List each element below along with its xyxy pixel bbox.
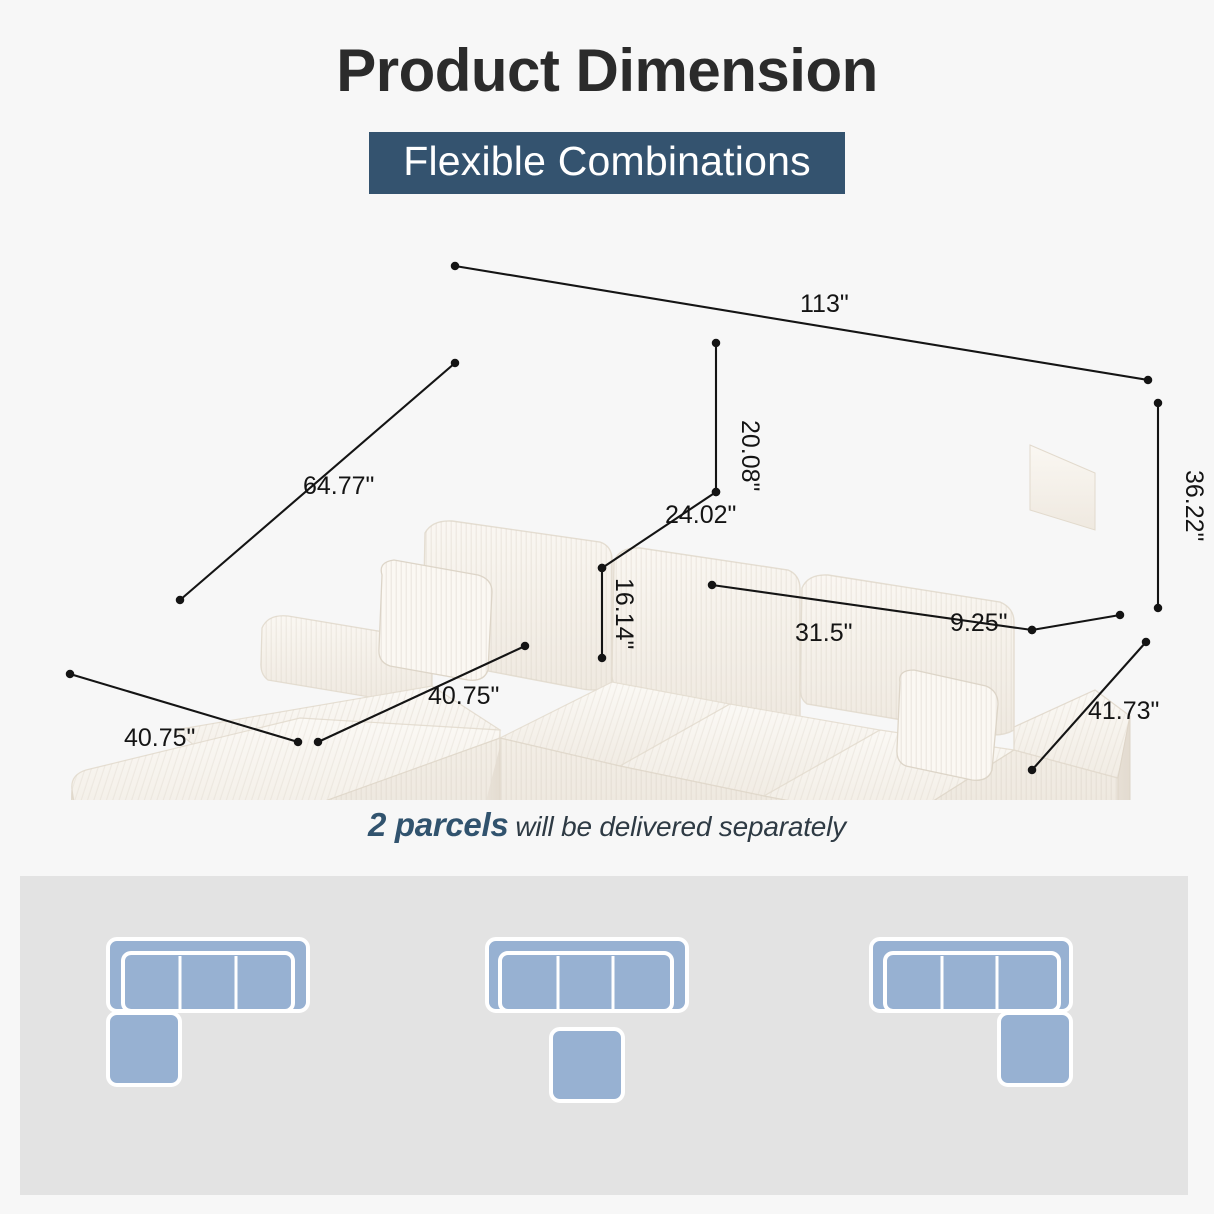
parcels-caption: 2 parcelswill be delivered separately [0, 806, 1214, 844]
throw-pillow-left [379, 560, 492, 680]
product-dimension-infographic: Product Dimension Flexible Combinations [0, 0, 1214, 1214]
dim-label-chaise-length: 64.77" [303, 472, 374, 500]
combination-left-chaise-icon [65, 921, 365, 1151]
dim-label-seat-height: 16.14" [610, 578, 638, 649]
combinations-panel [20, 876, 1188, 1195]
dim-label-module-width: 40.75" [428, 682, 499, 710]
dim-label-back-cushion-height: 20.08" [736, 420, 764, 491]
dim-label-overall-depth: 41.73" [1088, 697, 1159, 725]
dim-label-arm-width: 9.25" [950, 609, 1008, 637]
combination-right-chaise[interactable] [799, 876, 1188, 1195]
dim-label-overall-height: 36.22" [1180, 470, 1208, 541]
combination-detached-ottoman[interactable] [409, 876, 798, 1195]
dim-label-overall-width: 113" [800, 290, 849, 318]
parcels-count: 2 parcels [368, 806, 508, 843]
badge-container: Flexible Combinations [0, 132, 1214, 194]
flexible-combinations-badge: Flexible Combinations [369, 132, 845, 194]
combinations-grid [20, 876, 1188, 1195]
page-title: Product Dimension [0, 36, 1214, 105]
dim-label-seat-width: 31.5" [795, 619, 853, 647]
dim-label-seat-depth: 24.02" [665, 501, 736, 529]
combination-left-chaise[interactable] [20, 876, 409, 1195]
sofa-dimension-diagram: 113" 20.08" 24.02" 64.77" 16.14" 31.5" 9… [0, 230, 1214, 800]
parcels-description: will be delivered separately [515, 811, 846, 842]
combination-detached-ottoman-icon [454, 921, 754, 1151]
dim-label-chaise-width-front: 40.75" [124, 724, 195, 752]
sofa-svg: 113" 20.08" 24.02" 64.77" 16.14" 31.5" 9… [0, 230, 1214, 800]
throw-pillow-right [897, 670, 998, 780]
combination-right-chaise-icon [843, 921, 1143, 1151]
